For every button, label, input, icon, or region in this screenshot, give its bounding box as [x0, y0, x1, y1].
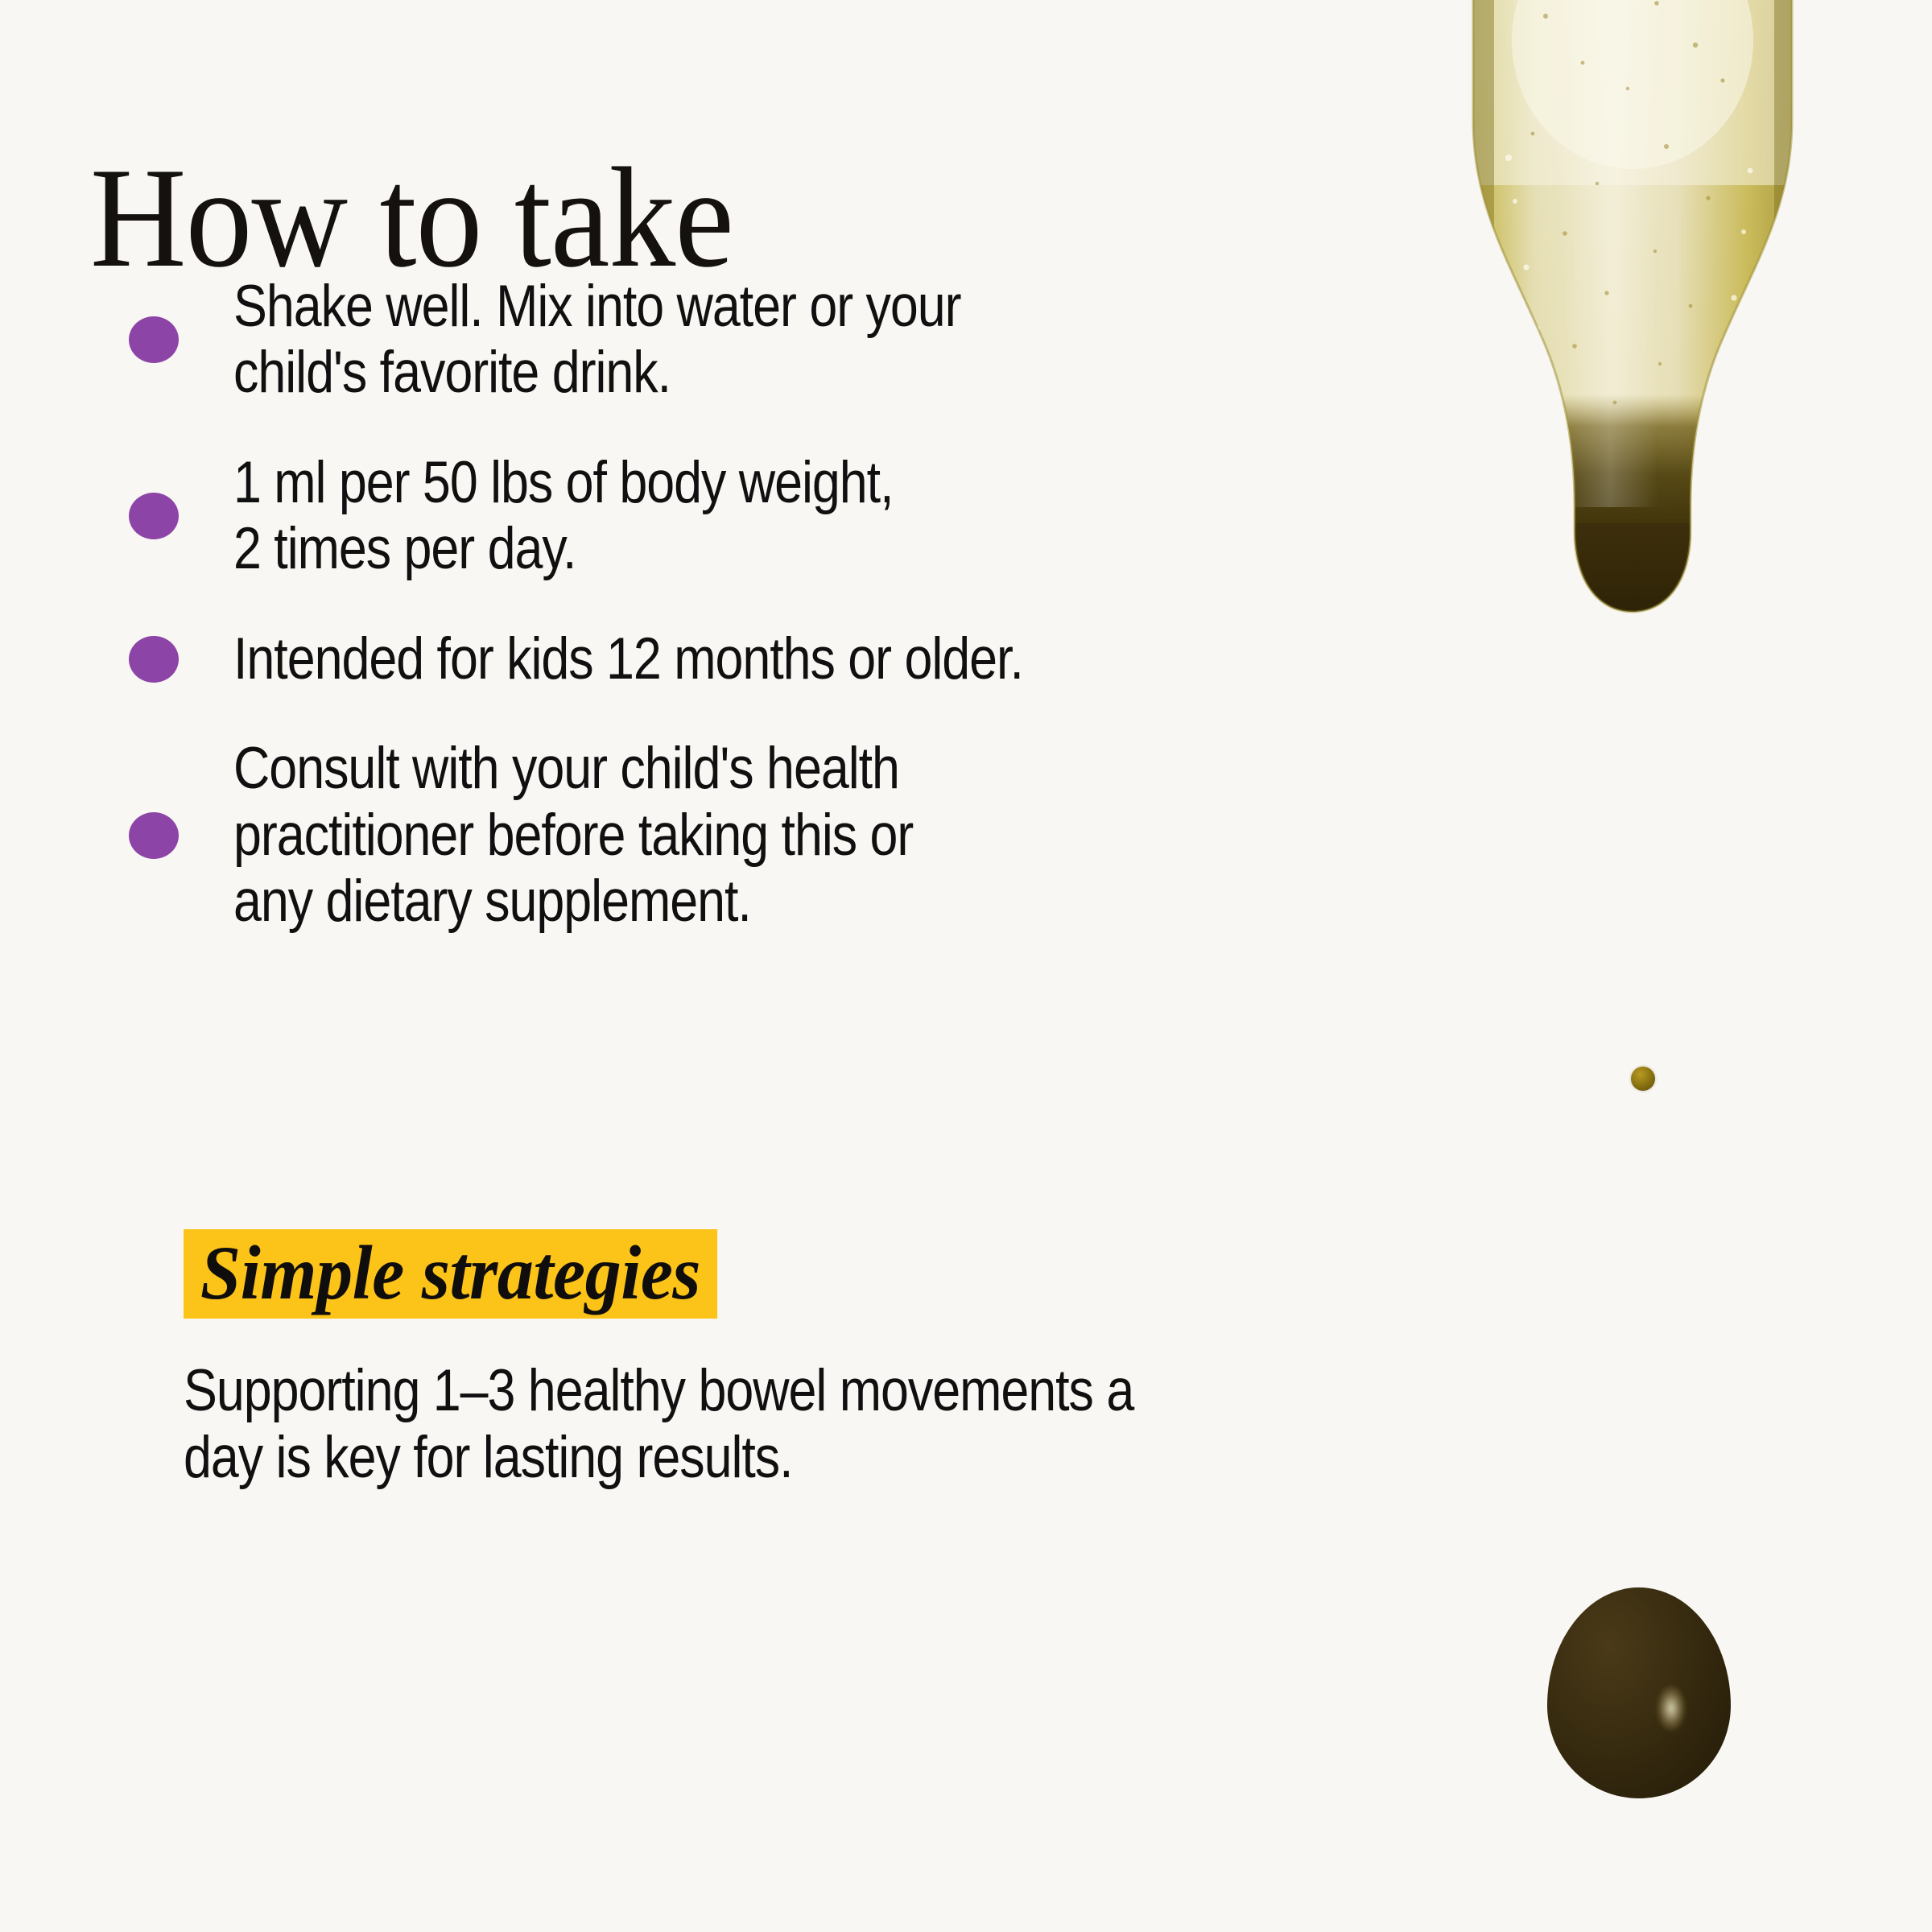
- purple-dot-icon: [129, 636, 179, 683]
- simple-strategies-body: Supporting 1–3 healthy bowel movements a…: [184, 1357, 1264, 1491]
- page-title: How to take: [90, 146, 733, 289]
- list-item-label: Consult with your child's health practit…: [233, 736, 1099, 935]
- simple-strategies-section: Simple strategies Supporting 1–3 healthy…: [184, 1229, 1270, 1491]
- small-oil-droplet-icon: [1631, 1067, 1655, 1091]
- list-item: Consult with your child's health practit…: [129, 736, 1240, 935]
- how-to-take-list: Shake well. Mix into water or your child…: [129, 274, 1240, 979]
- glass-dropper-pipette-icon: [1425, 0, 1843, 781]
- list-item-label: Shake well. Mix into water or your child…: [233, 274, 1099, 407]
- text-column: How to take Shake well. Mix into water o…: [0, 0, 1368, 1932]
- simple-strategies-heading: Simple strategies: [184, 1229, 717, 1319]
- list-item: 1 ml per 50 lbs of body weight, 2 times …: [129, 450, 1240, 583]
- large-oil-droplet-icon: [1547, 1587, 1731, 1798]
- list-item-label: 1 ml per 50 lbs of body weight, 2 times …: [233, 450, 1099, 583]
- list-item-label: Intended for kids 12 months or older.: [233, 626, 1099, 692]
- purple-dot-icon: [129, 493, 179, 539]
- purple-dot-icon: [129, 316, 179, 363]
- list-item: Shake well. Mix into water or your child…: [129, 274, 1240, 407]
- promo-card: How to take Shake well. Mix into water o…: [0, 0, 1932, 1932]
- purple-dot-icon: [129, 812, 179, 859]
- list-item: Intended for kids 12 months or older.: [129, 626, 1240, 692]
